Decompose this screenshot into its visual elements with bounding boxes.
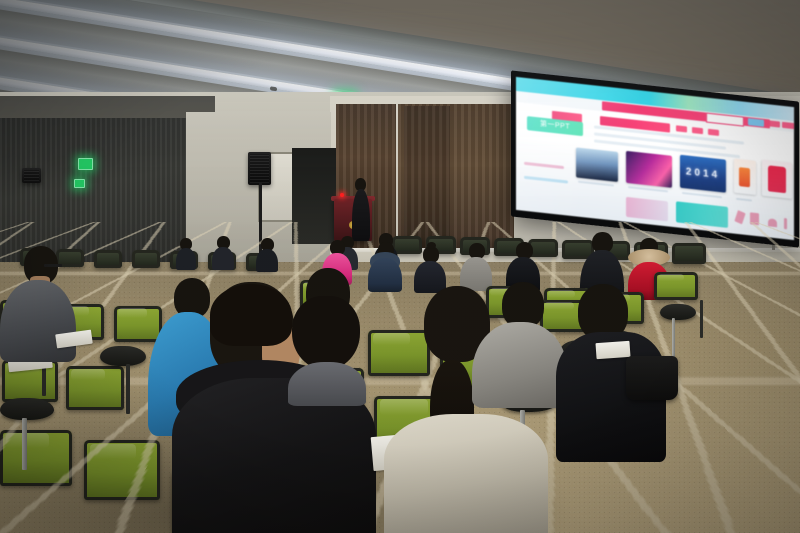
banner-pink[interactable] <box>626 197 668 222</box>
notebook <box>595 341 630 359</box>
side-row <box>524 162 564 169</box>
speaker-wall-left <box>22 168 41 183</box>
nav-chip[interactable] <box>768 120 780 127</box>
thumb-caption <box>628 186 668 192</box>
exit-sign-left-upper-icon <box>78 158 93 170</box>
nav-chip[interactable] <box>708 129 719 136</box>
thumbnail-orange-tag[interactable] <box>734 159 756 195</box>
attendee-dark-hair <box>284 268 368 398</box>
nav-chip[interactable] <box>676 125 687 132</box>
chair-green[interactable] <box>0 430 72 486</box>
chair-green[interactable] <box>84 440 160 500</box>
chair-leg <box>126 364 130 414</box>
chair-leg <box>672 318 675 360</box>
chair-tablet-arm <box>100 346 146 366</box>
chair-empty[interactable] <box>672 243 706 264</box>
attendee-grey-sweater <box>472 282 568 402</box>
side-row <box>524 176 568 184</box>
thumbnail-magenta[interactable] <box>626 151 672 188</box>
chair-empty[interactable] <box>132 250 160 268</box>
thumb-caption <box>736 198 752 202</box>
thumbnail-red-tag[interactable] <box>762 160 792 199</box>
attendee-distant <box>176 238 196 268</box>
attendee-distant <box>256 238 278 270</box>
chair-empty[interactable] <box>94 250 122 268</box>
chair-green[interactable] <box>66 366 124 410</box>
thumb-caption <box>578 181 614 187</box>
attendee-distant <box>212 236 234 268</box>
thumb-caption <box>682 192 722 198</box>
exit-sign-left-lower-icon <box>74 179 85 188</box>
speaker-tripod-center <box>248 152 271 185</box>
chair-leg <box>22 418 27 470</box>
conference-room-photo: 第一PPT 2014 <box>0 0 800 533</box>
nav-chip[interactable] <box>692 127 703 134</box>
chair-tablet-arm <box>0 398 54 420</box>
attendee-bun <box>414 244 446 290</box>
mic-indicator-icon <box>340 193 344 197</box>
thumbnail-2014[interactable]: 2014 <box>680 155 726 193</box>
chair-leg <box>700 300 703 338</box>
backpack[interactable] <box>626 356 678 400</box>
thumbnail-cityscape[interactable] <box>576 147 618 182</box>
presenter <box>352 178 370 242</box>
